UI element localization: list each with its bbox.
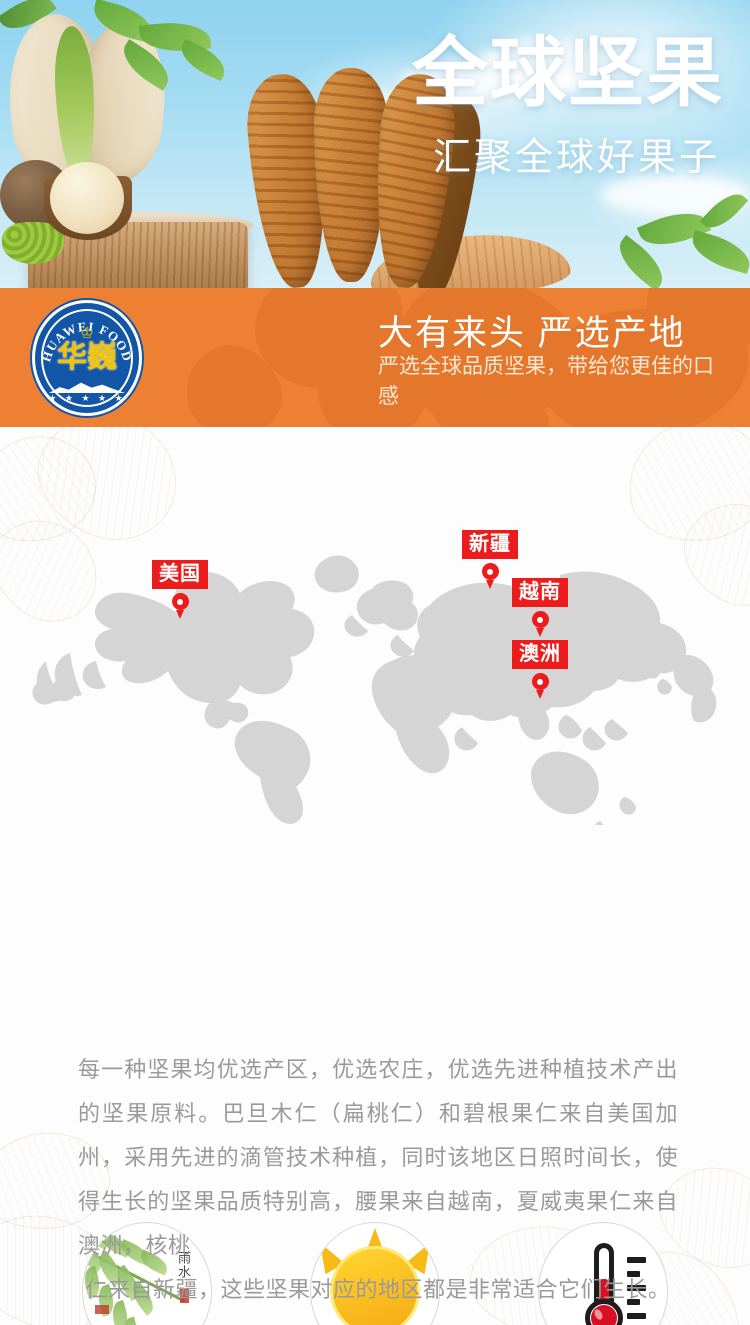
crown-icon: ♔ bbox=[74, 327, 100, 340]
map-pin-label: 澳洲 bbox=[512, 640, 568, 669]
map-pin-label: 美国 bbox=[152, 560, 208, 589]
world-map bbox=[0, 465, 750, 825]
green-leaf bbox=[687, 230, 750, 274]
hero-banner: 全球坚果 汇聚全球好果子 bbox=[0, 0, 750, 288]
hero-subtitle: 汇聚全球好果子 bbox=[433, 136, 720, 182]
map-marker-icon bbox=[532, 611, 549, 635]
map-marker-icon bbox=[532, 673, 549, 697]
band-subtitle: 严选全球品质坚果，带给您更佳的口感 bbox=[378, 352, 730, 413]
macadamia-kernel bbox=[50, 162, 124, 234]
map-pin-label: 新疆 bbox=[462, 530, 518, 559]
brand-logo: HUAWEI FOOD ♔ 华巍 ★ ★ ★ ★ ★ bbox=[32, 300, 142, 416]
description-body: 每一种坚果均优选产区，优选农庄，优选先进种植技术产出的坚果原料。巴旦木仁（扁桃仁… bbox=[78, 1057, 678, 1258]
map-pin-australia[interactable]: 澳洲 bbox=[512, 640, 568, 697]
logo-brand-name: 华巍 bbox=[35, 341, 139, 375]
band-title: 大有来头 严选产地 bbox=[378, 305, 686, 356]
map-marker-icon bbox=[482, 563, 499, 587]
map-marker-icon bbox=[172, 593, 189, 617]
map-pin-usa[interactable]: 美国 bbox=[152, 560, 208, 617]
map-pin-vietnam[interactable]: 越南 bbox=[512, 578, 568, 635]
description-last-line: 仁来自新疆，这些坚果对应的地区都是非常适合它们生长。 bbox=[78, 1268, 678, 1312]
map-pin-label: 越南 bbox=[512, 578, 568, 607]
logo-stars: ★ ★ ★ ★ ★ bbox=[35, 393, 139, 404]
map-pin-xinjiang[interactable]: 新疆 bbox=[462, 530, 518, 587]
hero-title: 全球坚果 bbox=[412, 34, 724, 113]
description-paragraph: 每一种坚果均优选产区，优选农庄，优选先进种植技术产出的坚果原料。巴旦木仁（扁桃仁… bbox=[78, 1048, 678, 1312]
